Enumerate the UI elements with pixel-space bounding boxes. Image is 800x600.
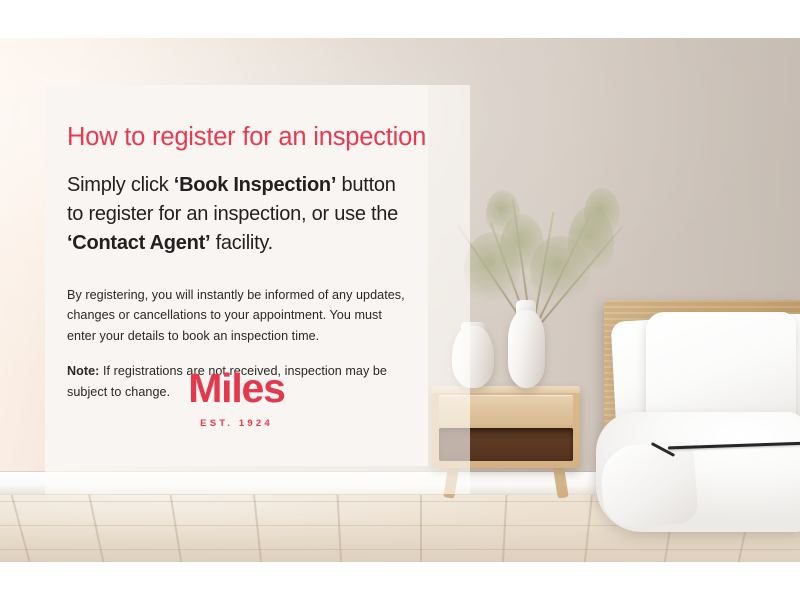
letterbox-bar-bottom [0,562,800,600]
info-panel: How to register for an inspection Simply… [45,85,428,466]
registration-details-paragraph: By registering, you will instantly be in… [67,285,407,346]
contact-agent-label: ‘Contact Agent’ [67,232,210,254]
nightstand [432,386,580,498]
floor-seam [0,549,800,550]
instruction-part-3: facility. [210,232,273,254]
book-inspection-label: ‘Book Inspection’ [174,174,336,196]
leaf-cluster [486,190,520,238]
floor-plank-line [420,495,422,562]
note-label: Note: [67,364,99,378]
instruction-text: Simply click ‘Book Inspection’ button to… [67,171,407,258]
bedroom-scene-photo: How to register for an inspection Simply… [0,38,800,562]
page-title: How to register for an inspection [67,123,407,151]
instruction-part-1: Simply click [67,174,174,196]
screenshot-stage: How to register for an inspection Simply… [0,0,800,600]
leaf-cluster [584,188,620,240]
info-panel-content: How to register for an inspection Simply… [67,123,407,417]
round-vase [452,326,494,388]
note-paragraph: Note: If registrations are not received,… [67,361,407,402]
nightstand-top [432,386,580,393]
nightstand-open-shelf [439,428,573,461]
note-text: If registrations are not received, inspe… [67,364,387,398]
nightstand-body [432,386,580,468]
letterbox-bar-top [0,0,800,38]
tall-vase [508,310,545,388]
duvet-fold [599,441,698,529]
nightstand-drawer [439,395,573,425]
